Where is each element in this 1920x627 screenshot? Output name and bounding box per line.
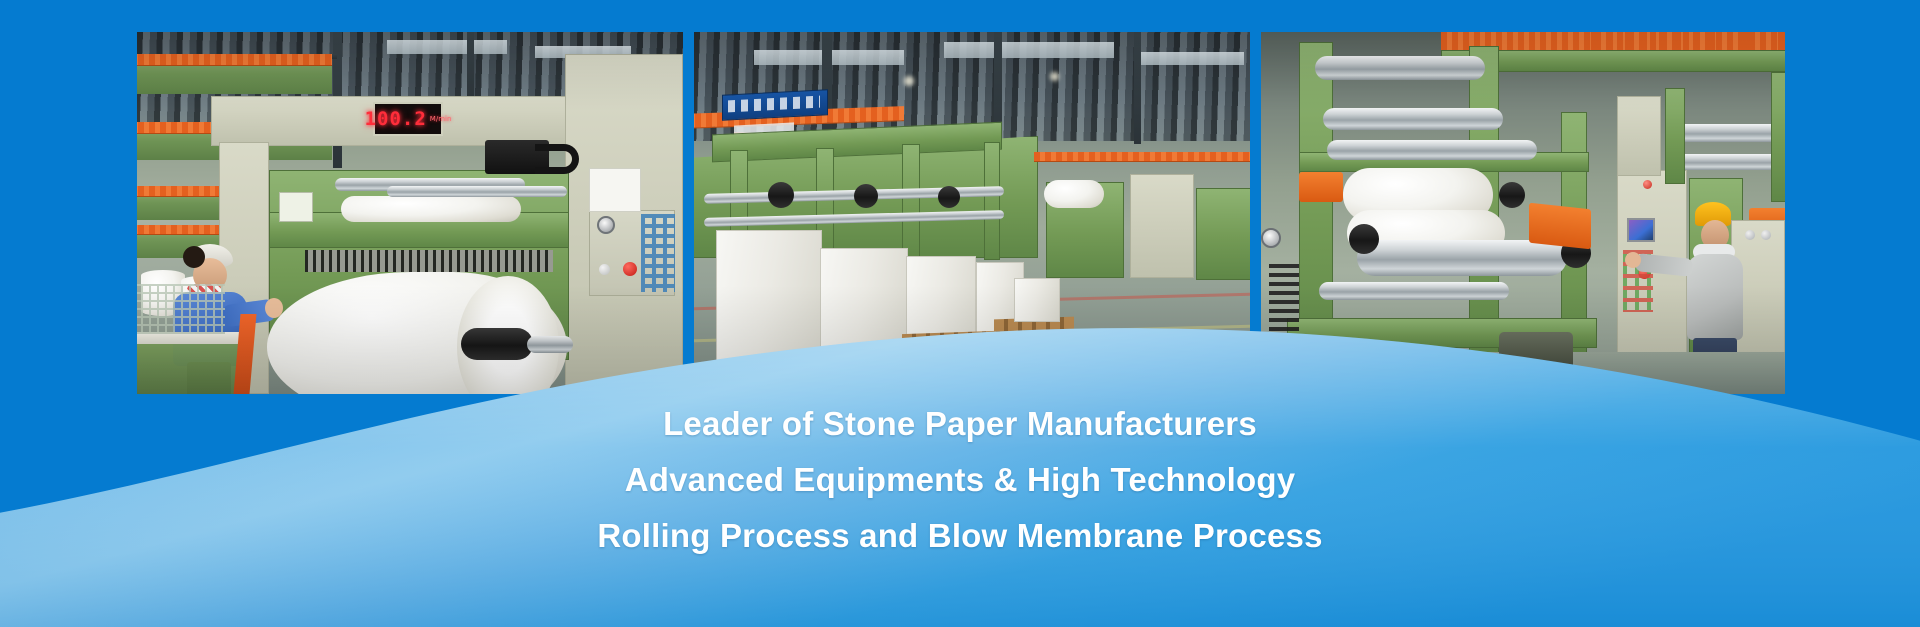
photo-rewinding-machine: 100.2 M/min: [137, 32, 683, 394]
guide-roller: [387, 186, 567, 197]
slitter-knife-row: [305, 250, 553, 272]
emergency-stop-button: [623, 262, 637, 276]
led-speed-unit: M/min: [430, 115, 452, 123]
pressure-gauge: [1261, 228, 1281, 248]
headline-line-2: Advanced Equipments & High Technology: [0, 452, 1920, 508]
indicator-light: [599, 264, 610, 275]
rack-guardrail: [137, 54, 332, 65]
document-holder: [589, 168, 641, 212]
skylight: [1134, 52, 1244, 65]
ceiling-lamp: [904, 76, 914, 86]
photo-production-hall: [694, 32, 1250, 394]
headline-block: Leader of Stone Paper Manufacturers Adva…: [0, 396, 1920, 564]
worker-hand: [265, 298, 283, 318]
machine-label-plate: [279, 192, 313, 222]
skylight: [944, 42, 1114, 58]
indicator-light: [1643, 180, 1652, 189]
coating-line-column: [984, 142, 1000, 260]
steel-roller: [1327, 140, 1537, 160]
panel-button-grid: [641, 214, 675, 292]
photo-strip: 100.2 M/min: [137, 32, 1785, 394]
roll-core-shaft: [461, 328, 533, 360]
speed-led-display: 100.2 M/min: [373, 102, 443, 136]
secondary-frame-column: [1771, 72, 1785, 202]
paper-bale: [820, 248, 908, 376]
worker-jacket: [1687, 254, 1743, 340]
roller-bearing: [1349, 224, 1379, 254]
led-speed-value: 100.2: [365, 108, 427, 130]
worker-hand: [1625, 252, 1641, 268]
steel-roller: [1673, 154, 1785, 170]
roof-beam: [1134, 32, 1141, 144]
cable-hose: [535, 144, 579, 174]
paper-bale: [1014, 278, 1060, 322]
photo-3-scene: [1261, 32, 1785, 394]
worker-hair: [183, 246, 205, 268]
headline-line-1: Leader of Stone Paper Manufacturers: [0, 396, 1920, 452]
paper-roll-small: [341, 196, 521, 222]
orange-counterweight: [1299, 172, 1343, 202]
pressure-gauge: [597, 216, 615, 234]
steel-roller: [1319, 282, 1509, 300]
line-roller-bearing: [938, 186, 960, 208]
photo-1-scene: 100.2 M/min: [137, 32, 683, 394]
hose-coil: [1269, 264, 1299, 360]
paper-bale: [716, 230, 822, 380]
indicator-light: [1761, 230, 1771, 240]
photo-2-scene: [694, 32, 1250, 394]
roll-shaft: [527, 336, 573, 353]
distant-machine: [1196, 188, 1250, 280]
distant-cabinet: [1130, 174, 1194, 278]
orange-counterweight: [1529, 203, 1591, 250]
headline-line-3: Rolling Process and Blow Membrane Proces…: [0, 508, 1920, 564]
distant-roll: [1044, 180, 1104, 208]
coating-line-column: [902, 144, 920, 262]
line-roller-bearing: [768, 182, 794, 208]
roller-bearing: [1499, 182, 1525, 208]
control-cabinet-upper: [1617, 96, 1661, 176]
photo-calender-line: [1261, 32, 1785, 394]
motor-unit: [1499, 332, 1573, 378]
steel-roller: [1315, 56, 1485, 80]
worktable-legs: [137, 344, 243, 394]
skylight: [387, 40, 507, 54]
ceiling-lamp: [1050, 72, 1059, 81]
line-roller-bearing: [854, 184, 878, 208]
hmi-touchscreen: [1627, 218, 1655, 242]
promotional-banner: 100.2 M/min: [0, 0, 1920, 627]
steel-roller: [1357, 240, 1567, 276]
secondary-frame-column: [1665, 88, 1685, 184]
distant-rail: [1034, 152, 1250, 161]
steel-roller: [1323, 108, 1503, 130]
wire-mesh-basket: [137, 284, 225, 334]
